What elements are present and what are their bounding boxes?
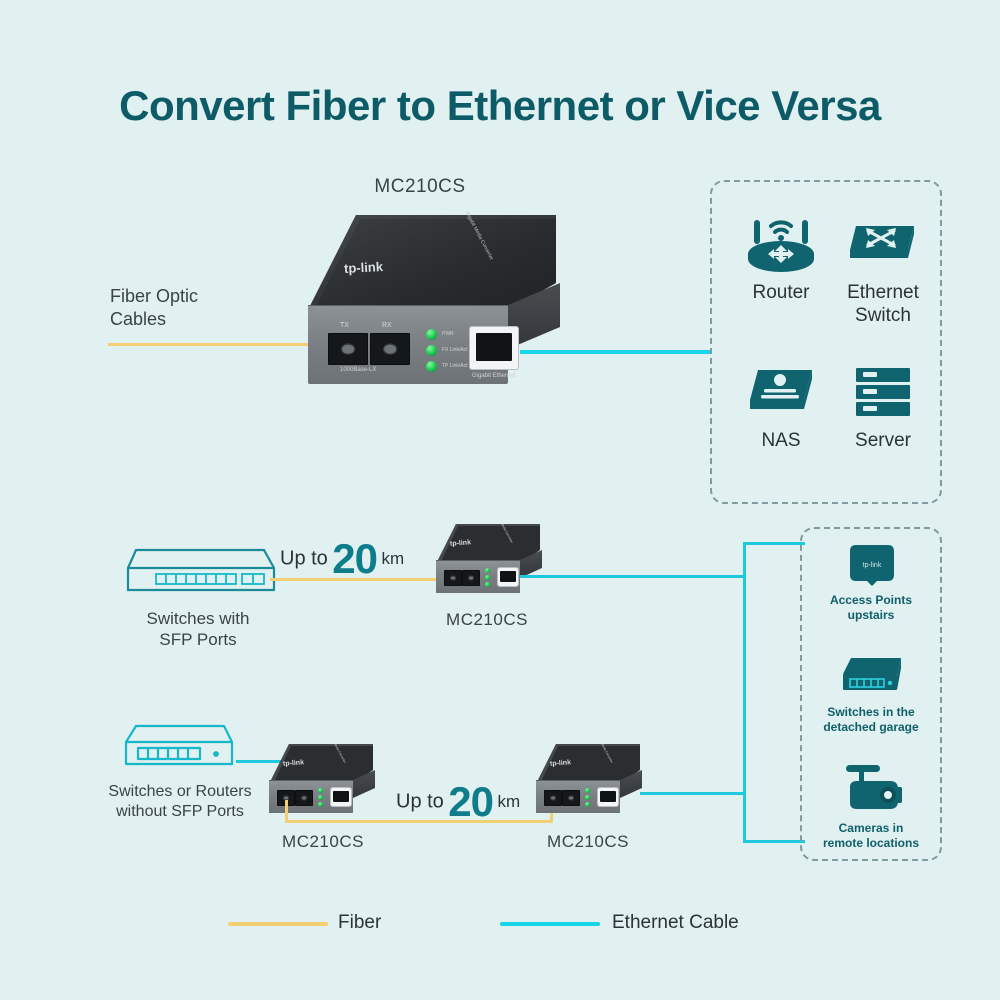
fiber-optic-cables-label: Fiber Optic Cables — [110, 285, 310, 330]
ethernet-switch-icon — [842, 218, 922, 272]
access-point-icon: tp-link — [846, 541, 898, 589]
page-title: Convert Fiber to Ethernet or Vice Versa — [0, 82, 1000, 130]
distance-prefix-middle: Up to — [280, 548, 328, 570]
switch-with-sfp-outline-icon — [118, 546, 278, 598]
switch-with-sfp-label: Switches with SFP Ports — [108, 608, 288, 651]
led-power-br — [585, 788, 590, 793]
fiber-port-rx-middle — [462, 570, 480, 586]
led-fx-link-bl — [318, 795, 323, 800]
fiber-optic-cables-label-line1: Fiber Optic — [110, 285, 310, 308]
distance-label-bottom: Up to 20 km — [396, 778, 520, 826]
svg-text:tp-link: tp-link — [863, 562, 882, 569]
distance-unit-bottom: km — [497, 792, 520, 811]
tp-link-logo-icon-br: tp-link — [550, 759, 571, 767]
switch-icon — [837, 654, 909, 700]
legend-fiber-label: Fiber — [338, 912, 381, 934]
ethernet-switch-label-text: Ethernet Switch — [847, 282, 919, 326]
switch-without-sfp-label-line2: without SFP Ports — [80, 802, 280, 822]
fiber-port-rx — [370, 333, 410, 365]
camera-icon — [838, 761, 908, 817]
switch-with-sfp-label-line2: SFP Ports — [108, 629, 288, 650]
access-point-label-line2: upstairs — [806, 608, 936, 623]
tp-link-logo-icon: tp-link — [344, 259, 384, 276]
legend-ethernet-line — [500, 922, 600, 926]
led-tp-link — [426, 361, 437, 372]
ethernet-cable-bottom-right — [640, 792, 746, 795]
fiber-port-print: 1000Base-LX — [340, 367, 376, 373]
nas-label: NAS — [728, 430, 834, 453]
media-converter-mc210cs-bottom-left: tp-link Media Converter — [265, 738, 375, 816]
led-fx-link — [426, 345, 437, 356]
fiber-port-tx-br — [544, 790, 562, 806]
tp-link-logo-icon-bl: tp-link — [283, 759, 304, 767]
fiber-port-rx-br — [562, 790, 580, 806]
distance-label-middle: Up to 20 km — [280, 535, 404, 583]
fiber-port-tx-middle — [444, 570, 462, 586]
access-point-label: Access Points upstairs — [806, 593, 936, 623]
nas-icon — [742, 366, 820, 418]
device-model-label-bottom-right: MC210CS — [513, 832, 663, 852]
ethernet-bus-vertical — [743, 542, 746, 794]
media-converter-mc210cs-middle: tp-link Media Converter — [432, 518, 542, 596]
switch-without-sfp-label: Switches or Routers without SFP Ports — [80, 782, 280, 822]
led-fx-link-middle — [485, 575, 490, 580]
switch-with-sfp-label-line1: Switches with — [108, 608, 288, 629]
access-point-label-line1: Access Points — [806, 593, 936, 608]
distance-prefix-bottom: Up to — [396, 791, 444, 813]
top-right-device-panel: Router — [710, 180, 942, 504]
switch-garage-label: Switches in the detached garage — [802, 705, 940, 735]
camera-label: Cameras in remote locations — [802, 821, 940, 851]
tp-link-logo-icon-middle: tp-link — [450, 539, 471, 547]
switch-garage-label-line1: Switches in the — [802, 705, 940, 720]
switch-garage-label-line2: detached garage — [802, 720, 940, 735]
fiber-cable-bottom-v-left — [285, 800, 288, 822]
ethernet-port-rj45 — [470, 327, 518, 369]
led-power-bl — [318, 788, 323, 793]
led-label-tp: TP Link/Act — [442, 363, 467, 369]
server-icon — [852, 366, 914, 418]
ethernet-bus-branch-bottom — [743, 840, 805, 843]
fiber-optic-cables-label-line2: Cables — [110, 308, 310, 331]
distance-value-middle: 20 — [332, 535, 377, 582]
legend-ethernet-label: Ethernet Cable — [612, 912, 739, 934]
server-label: Server — [830, 430, 936, 453]
led-power — [426, 329, 437, 340]
camera-label-line1: Cameras in — [802, 821, 940, 836]
router-icon — [738, 212, 824, 274]
router-label: Router — [728, 282, 834, 305]
diagram-canvas: Convert Fiber to Ethernet or Vice Versa … — [0, 0, 1000, 1000]
ethernet-bus-vertical-lower — [743, 792, 746, 843]
led-label-power: PWR — [442, 331, 454, 337]
media-converter-mc210cs-main: tp-link Gigabit Media Converter TX RX 10… — [300, 205, 560, 385]
bottom-right-device-panel: tp-link Access Points upstairs — [800, 527, 942, 861]
switch-without-sfp-label-line1: Switches or Routers — [80, 782, 280, 802]
led-tp-link-br — [585, 802, 590, 807]
legend-fiber-line — [228, 922, 328, 926]
led-tp-link-bl — [318, 802, 323, 807]
media-converter-mc210cs-bottom-right: tp-link Media Converter — [532, 738, 642, 816]
distance-unit-middle: km — [381, 549, 404, 568]
rx-port-label: RX — [382, 322, 392, 329]
fiber-cable-top — [108, 343, 330, 346]
ethernet-port-rj45-br — [598, 788, 618, 806]
distance-value-bottom: 20 — [448, 778, 493, 825]
tx-port-label: TX — [340, 322, 349, 329]
ethernet-bus-branch-top — [743, 542, 805, 545]
led-label-fx: FX Link/Act — [442, 347, 468, 353]
ethernet-port-print: Gigabit Ethernet — [472, 373, 515, 379]
camera-label-line2: remote locations — [802, 836, 940, 851]
device-model-label-middle: MC210CS — [412, 610, 562, 630]
ethernet-switch-label: Ethernet Switch — [830, 282, 936, 328]
led-tp-link-middle — [485, 582, 490, 587]
ethernet-port-rj45-bl — [331, 788, 351, 806]
fiber-port-rx-bl — [295, 790, 313, 806]
led-power-middle — [485, 568, 490, 573]
led-fx-link-br — [585, 795, 590, 800]
device-model-label-top: MC210CS — [330, 176, 510, 198]
ethernet-cable-middle — [520, 575, 745, 578]
ethernet-port-rj45-middle — [498, 568, 518, 586]
switch-without-sfp-outline-icon — [120, 722, 238, 770]
device-model-label-bottom-left: MC210CS — [248, 832, 398, 852]
fiber-port-tx — [328, 333, 368, 365]
